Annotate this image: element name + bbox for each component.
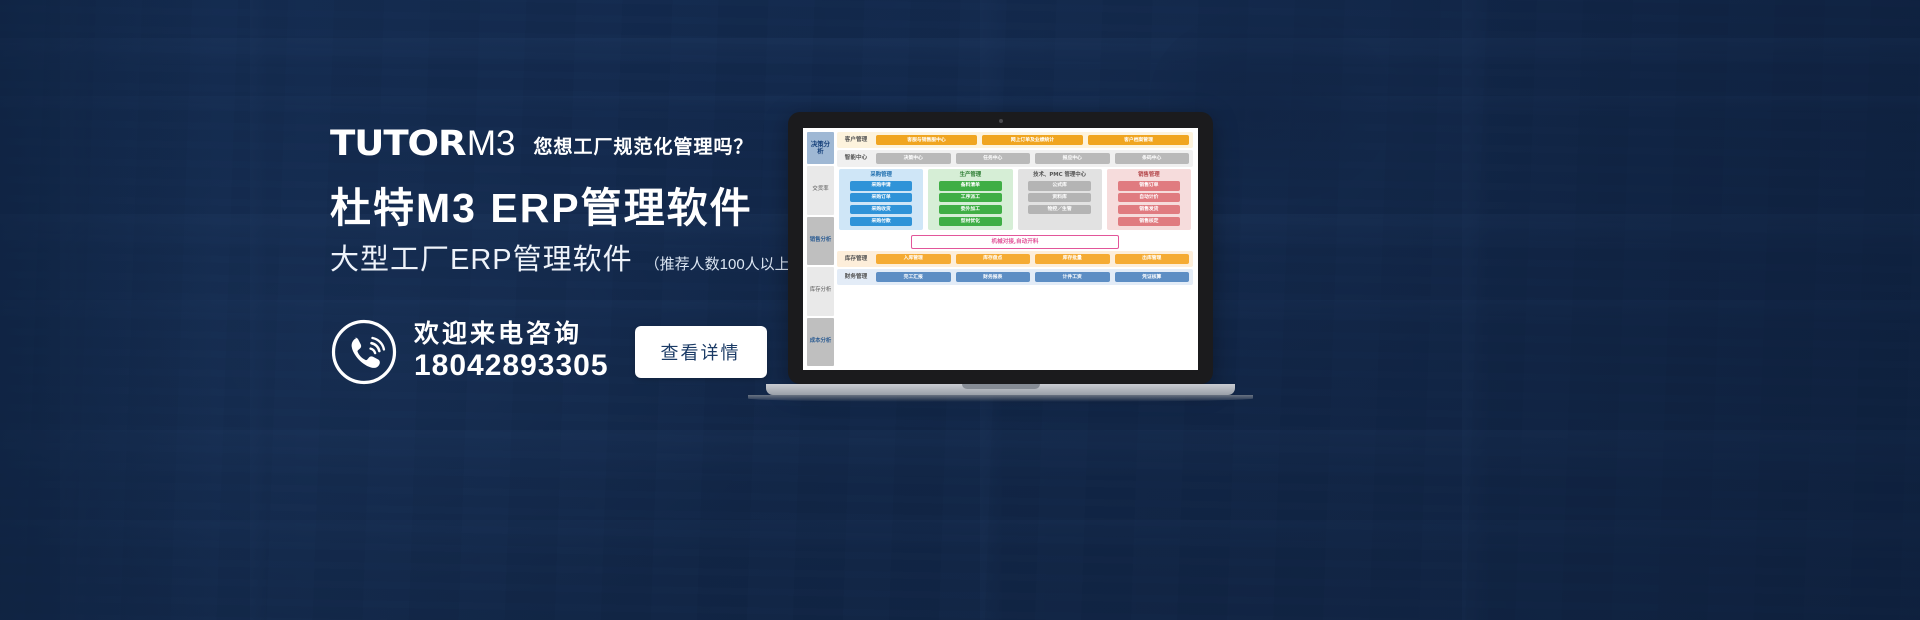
band-chip[interactable]: 库存批量: [1035, 254, 1110, 264]
column-item[interactable]: 销售核定: [1118, 217, 1181, 226]
band-chip[interactable]: 决策中心: [876, 153, 951, 163]
band-label: 财务管理: [841, 274, 871, 280]
laptop-screen: 决策分析 交货率 销售分析 库存分析 成本分析 客户管理 客服与销售服中心 网上…: [803, 128, 1198, 370]
column-item[interactable]: 采购订单: [850, 193, 913, 202]
page-title: 杜特M3 ERP管理软件: [330, 174, 753, 234]
band-chip[interactable]: 出库管理: [1115, 254, 1190, 264]
diagram-sidebar-item-inventory[interactable]: 库存分析: [807, 267, 834, 316]
diagram-column-tech-pmc: 技术、PMC 管理中心 公式库 资料库 物控／生管: [1018, 169, 1102, 230]
webcam-dot: [999, 119, 1003, 123]
phone-call-icon[interactable]: [330, 318, 398, 386]
contact-phone-number[interactable]: 18042893305: [414, 349, 609, 384]
band-chip[interactable]: 凭证核算: [1115, 272, 1190, 282]
diagram-column-sales: 销售管理 销售订单 自动计价 销售发货 销售核定: [1107, 169, 1191, 230]
band-chip[interactable]: 客户档案管理: [1088, 135, 1189, 145]
subtitle-note: （推荐人数100人以上）: [645, 253, 805, 274]
diagram-band-customer: 客户管理 客服与销售服中心 网上订单及业绩统计 客户档案管理: [837, 132, 1193, 148]
diagram-column-production: 生产管理 备料清单 工序派工 委外加工 型材优化: [928, 169, 1012, 230]
column-item[interactable]: 物控／生管: [1028, 205, 1091, 214]
diagram-columns: 采购管理 采购申请 采购订单 采购收货 采购付款 生产管理 备料清单 工序派工 …: [837, 169, 1193, 230]
logo-brand-text: TUTOR: [330, 124, 466, 164]
view-details-button[interactable]: 查看详情: [635, 326, 767, 378]
column-item[interactable]: 采购申请: [850, 181, 913, 190]
band-label: 智能中心: [841, 155, 871, 161]
column-item[interactable]: 备料清单: [939, 181, 1002, 190]
subtitle-text: 大型工厂ERP管理软件: [330, 236, 633, 278]
column-item[interactable]: 采购收货: [850, 205, 913, 214]
background-left-vignette: [0, 0, 215, 620]
band-label: 客户管理: [841, 137, 871, 143]
band-chip[interactable]: 财务报表: [956, 272, 1031, 282]
band-chip[interactable]: 库存盘点: [956, 254, 1031, 264]
column-title: 生产管理: [960, 172, 982, 178]
column-item[interactable]: 委外加工: [939, 205, 1002, 214]
diagram-sidebar-item-delivery[interactable]: 交货率: [807, 166, 834, 215]
column-item[interactable]: 采购付款: [850, 217, 913, 226]
logo-tagline: 您想工厂规范化管理吗？: [534, 132, 754, 159]
column-title: 技术、PMC 管理中心: [1033, 172, 1086, 178]
band-chip[interactable]: 入库管理: [876, 254, 951, 264]
band-chip[interactable]: 完工汇报: [876, 272, 951, 282]
diagram-sidebar-header: 决策分析: [807, 132, 834, 164]
column-item[interactable]: 型材优化: [939, 217, 1002, 226]
erp-architecture-diagram: 决策分析 交货率 销售分析 库存分析 成本分析 客户管理 客服与销售服中心 网上…: [803, 128, 1198, 370]
logo-model-text: M3: [467, 124, 516, 164]
laptop-base-shadow: [748, 395, 1253, 402]
laptop-mockup: 决策分析 交货率 销售分析 库存分析 成本分析 客户管理 客服与销售服中心 网上…: [788, 112, 1213, 384]
column-item[interactable]: 公式库: [1028, 181, 1091, 190]
column-item[interactable]: 自动计价: [1118, 193, 1181, 202]
column-item[interactable]: 资料库: [1028, 193, 1091, 202]
band-chip[interactable]: 条码中心: [1115, 153, 1190, 163]
diagram-body: 客户管理 客服与销售服中心 网上订单及业绩统计 客户档案管理 智能中心 决策中心…: [837, 132, 1193, 366]
column-item[interactable]: 销售发货: [1118, 205, 1181, 214]
diagram-band-inventory: 库存管理 入库管理 库存盘点 库存批量 出库管理: [837, 251, 1193, 267]
laptop-lid: 决策分析 交货率 销售分析 库存分析 成本分析 客户管理 客服与销售服中心 网上…: [788, 112, 1213, 384]
diagram-band-smart-center: 智能中心 决策中心 任务中心 报应中心 条码中心: [837, 150, 1193, 166]
column-item[interactable]: 销售订单: [1118, 181, 1181, 190]
band-chip[interactable]: 报应中心: [1035, 153, 1110, 163]
band-label: 库存管理: [841, 256, 871, 262]
band-chip[interactable]: 网上订单及业绩统计: [982, 135, 1083, 145]
contact-block: 欢迎来电咨询 18042893305 查看详情: [330, 318, 767, 386]
band-chip[interactable]: 客服与销售服中心: [876, 135, 977, 145]
band-chip[interactable]: 计件工资: [1035, 272, 1110, 282]
brand-logo: TUTOR M3 您想工厂规范化管理吗？: [330, 124, 754, 164]
contact-welcome-label: 欢迎来电咨询: [414, 320, 609, 349]
diagram-sidebar: 决策分析 交货率 销售分析 库存分析 成本分析: [807, 132, 834, 366]
column-item[interactable]: 工序派工: [939, 193, 1002, 202]
diagram-column-purchase: 采购管理 采购申请 采购订单 采购收货 采购付款: [839, 169, 923, 230]
contact-text: 欢迎来电咨询 18042893305: [414, 320, 609, 383]
diagram-machine-box: 机械对接,自动开料: [911, 235, 1119, 249]
hero-banner: TUTOR M3 您想工厂规范化管理吗？ 杜特M3 ERP管理软件 大型工厂ER…: [0, 0, 1920, 620]
subtitle-row: 大型工厂ERP管理软件 （推荐人数100人以上）: [330, 236, 805, 278]
diagram-band-finance: 财务管理 完工汇报 财务报表 计件工资 凭证核算: [837, 269, 1193, 285]
laptop-base-notch: [962, 384, 1040, 389]
column-title: 采购管理: [870, 172, 892, 178]
column-title: 销售管理: [1138, 172, 1160, 178]
diagram-sidebar-item-sales[interactable]: 销售分析: [807, 217, 834, 266]
laptop-base: [766, 384, 1235, 395]
diagram-sidebar-item-cost[interactable]: 成本分析: [807, 318, 834, 367]
band-chip[interactable]: 任务中心: [956, 153, 1031, 163]
